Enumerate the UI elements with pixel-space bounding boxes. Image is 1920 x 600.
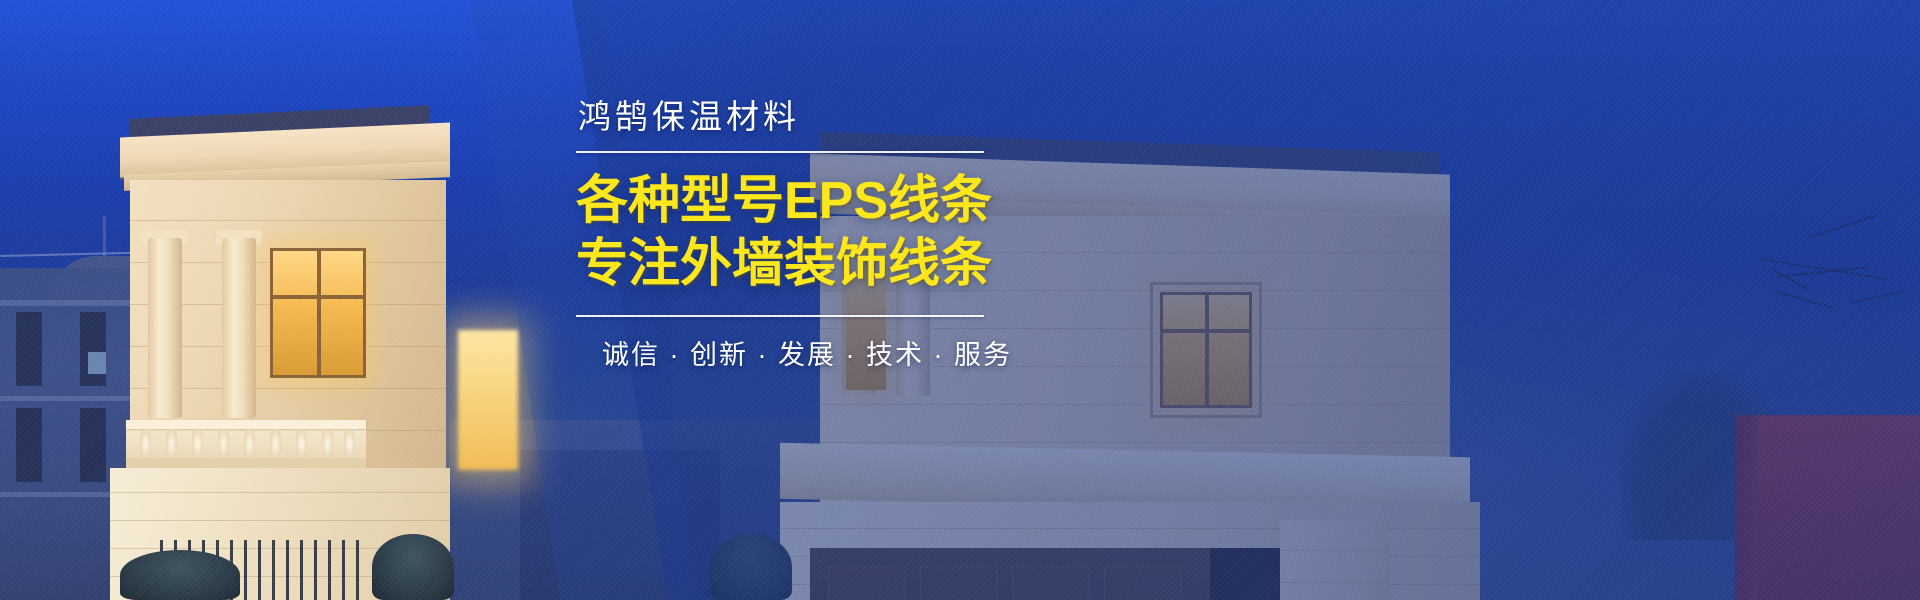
tagline: 诚信 · 创新 · 发展 · 技术 · 服务	[602, 333, 1006, 372]
background-window	[16, 312, 42, 386]
divider-top	[576, 151, 984, 153]
headline-line-2: 专注外墙装饰线条	[576, 234, 1006, 295]
column	[148, 238, 182, 418]
background-window	[80, 312, 106, 386]
shrub	[120, 550, 240, 600]
window-frame	[270, 248, 366, 378]
background-lit-window	[88, 352, 106, 374]
shrub	[372, 534, 454, 600]
balustrade	[126, 420, 366, 468]
divider-bottom	[576, 315, 984, 317]
brand-name: 鸿鹄保温材料	[578, 96, 1006, 137]
column	[222, 238, 256, 418]
hero-banner: 鸿鹄保温材料 各种型号EPS线条 专注外墙装饰线条 诚信 · 创新 · 发展 ·…	[0, 0, 1920, 600]
background-window	[80, 408, 106, 482]
entrance-light-glow	[458, 330, 518, 470]
headline-line-1: 各种型号EPS线条	[576, 171, 1006, 232]
background-window	[16, 408, 42, 482]
banner-copy: 鸿鹄保温材料 各种型号EPS线条 专注外墙装饰线条 诚信 · 创新 · 发展 ·…	[576, 96, 1006, 372]
